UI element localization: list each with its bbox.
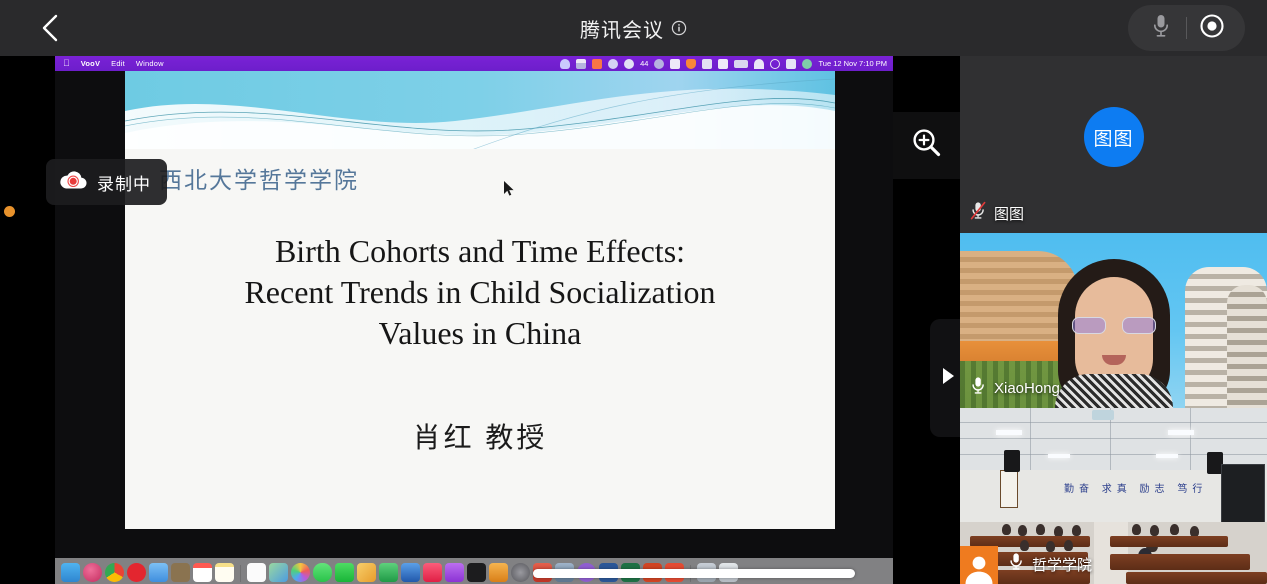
participant-tile[interactable]: 图图 图图 bbox=[960, 56, 1267, 233]
microphone-muted-icon bbox=[970, 201, 987, 225]
notification-count: 44 bbox=[640, 59, 648, 68]
microphone-icon bbox=[1151, 13, 1171, 44]
keyboard-input-icon[interactable] bbox=[592, 59, 602, 69]
avatar-initials: 图图 bbox=[1093, 124, 1133, 151]
display-icon[interactable] bbox=[702, 59, 712, 69]
books-icon[interactable] bbox=[489, 563, 508, 582]
classroom-banner-text: 勤奋 求真 励志 笃行 bbox=[1064, 480, 1207, 495]
meeting-screen: 腾讯会议 bbox=[0, 0, 1267, 584]
participant-strip: 图图 图图 bbox=[960, 56, 1267, 584]
numbers-icon[interactable] bbox=[379, 563, 398, 582]
menu-bar-status-icons: 44 Tue 12 Nov 7:10 PM bbox=[560, 59, 893, 69]
photos-icon[interactable] bbox=[291, 563, 310, 582]
top-bar: 腾讯会议 bbox=[0, 0, 1267, 56]
slide-title-line-1: Birth Cohorts and Time Effects: bbox=[145, 231, 815, 272]
status-dot-indicator bbox=[4, 206, 15, 217]
battery-icon[interactable] bbox=[734, 60, 748, 68]
zoom-in-button[interactable] bbox=[893, 112, 960, 179]
shared-mac-desktop:  VooV Edit Window 44 bbox=[55, 56, 893, 584]
microphone-icon bbox=[970, 376, 987, 400]
slide-organization: 西北大学哲学学院 bbox=[159, 161, 359, 195]
avatar: 图图 bbox=[1084, 107, 1144, 167]
participant-name: 图图 bbox=[994, 203, 1024, 224]
meeting-title-group: 腾讯会议 bbox=[0, 0, 1267, 56]
slide-title: Birth Cohorts and Time Effects: Recent T… bbox=[125, 231, 835, 354]
siri-icon[interactable] bbox=[802, 59, 812, 69]
shield-icon[interactable] bbox=[686, 59, 696, 69]
menu-bar-clock[interactable]: Tue 12 Nov 7:10 PM bbox=[818, 59, 887, 68]
folder-icon[interactable] bbox=[171, 563, 190, 582]
person-avatar-icon bbox=[960, 546, 998, 584]
search-icon[interactable] bbox=[770, 59, 780, 69]
mail-icon[interactable] bbox=[149, 563, 168, 582]
menu-item-voov[interactable]: VooV bbox=[81, 59, 100, 68]
presentation-slide: 西北大学哲学学院 Birth Cohorts and Time Effects:… bbox=[125, 71, 835, 529]
calendar-icon[interactable] bbox=[193, 563, 212, 582]
slide-wave-decoration bbox=[125, 71, 835, 156]
participant-name-group: 图图 bbox=[970, 201, 1024, 225]
menu-item-edit[interactable]: Edit bbox=[111, 59, 125, 68]
opera-icon[interactable] bbox=[127, 563, 146, 582]
participant-name-group: XiaoHong bbox=[970, 376, 1060, 400]
menu-bar-left:  VooV Edit Window bbox=[55, 59, 164, 68]
triangle-right-icon bbox=[940, 366, 956, 391]
slide-presenter: 肖红 教授 bbox=[125, 416, 835, 456]
participant-tile[interactable]: XiaoHong bbox=[960, 233, 1267, 408]
page-title: 腾讯会议 bbox=[580, 14, 664, 43]
mac-menu-bar:  VooV Edit Window 44 bbox=[55, 56, 893, 71]
shared-screen-area[interactable]:  VooV Edit Window 44 bbox=[0, 56, 960, 584]
cloud-record-icon bbox=[58, 169, 88, 196]
binoculars-icon[interactable] bbox=[670, 59, 680, 69]
messages-icon[interactable] bbox=[313, 563, 332, 582]
info-circle-icon[interactable] bbox=[671, 20, 687, 36]
facetime-icon[interactable] bbox=[335, 563, 354, 582]
mic-toggle-button[interactable] bbox=[1136, 5, 1186, 51]
participant-tile[interactable]: 勤奋 求真 励志 笃行 bbox=[960, 408, 1267, 584]
menu-item-window[interactable]: Window bbox=[136, 59, 164, 68]
participant-name: XiaoHong bbox=[994, 380, 1060, 397]
recording-label: 录制中 bbox=[97, 170, 151, 195]
top-right-controls bbox=[1128, 5, 1245, 51]
podcasts-icon[interactable] bbox=[445, 563, 464, 582]
control-center-icon[interactable] bbox=[786, 59, 796, 69]
stack-icon[interactable] bbox=[576, 59, 586, 69]
globe-icon[interactable] bbox=[654, 59, 664, 69]
letter-a-icon[interactable] bbox=[718, 59, 728, 69]
mouse-cursor-icon bbox=[504, 181, 515, 202]
participant-name-group: 哲学学院 bbox=[1008, 552, 1092, 576]
launchpad-icon[interactable] bbox=[83, 563, 102, 582]
camera-toggle-button[interactable] bbox=[1187, 5, 1237, 51]
slide-title-line-3: Values in China bbox=[145, 313, 815, 354]
chrome-icon[interactable] bbox=[105, 563, 124, 582]
keynote-icon[interactable] bbox=[401, 563, 420, 582]
recording-badge: 录制中 bbox=[46, 159, 167, 205]
apple-logo-icon[interactable]:  bbox=[63, 59, 70, 68]
wifi-icon[interactable] bbox=[754, 59, 764, 69]
music-icon[interactable] bbox=[423, 563, 442, 582]
participant-strip-toggle[interactable] bbox=[930, 319, 960, 437]
at-sign-icon[interactable] bbox=[608, 59, 618, 69]
stickies-icon[interactable] bbox=[357, 563, 376, 582]
microphone-icon bbox=[1008, 552, 1025, 576]
maps-icon[interactable] bbox=[269, 563, 288, 582]
finder-icon[interactable] bbox=[61, 563, 80, 582]
slide-title-line-2: Recent Trends in Child Socialization bbox=[145, 272, 815, 313]
camera-record-icon bbox=[1199, 13, 1225, 44]
notes-icon[interactable] bbox=[215, 563, 234, 582]
magnifier-plus-icon bbox=[909, 125, 945, 166]
reminders-icon[interactable] bbox=[247, 563, 266, 582]
participant-video: 勤奋 求真 励志 笃行 bbox=[960, 408, 1267, 584]
participant-name: 哲学学院 bbox=[1032, 554, 1092, 575]
dock-divider bbox=[240, 565, 241, 582]
cloud-sync-icon[interactable] bbox=[560, 59, 570, 69]
wechat-icon[interactable] bbox=[624, 59, 634, 69]
appletv-icon[interactable] bbox=[467, 563, 486, 582]
horizontal-scrollbar[interactable] bbox=[533, 569, 855, 578]
settings-icon[interactable] bbox=[511, 563, 530, 582]
